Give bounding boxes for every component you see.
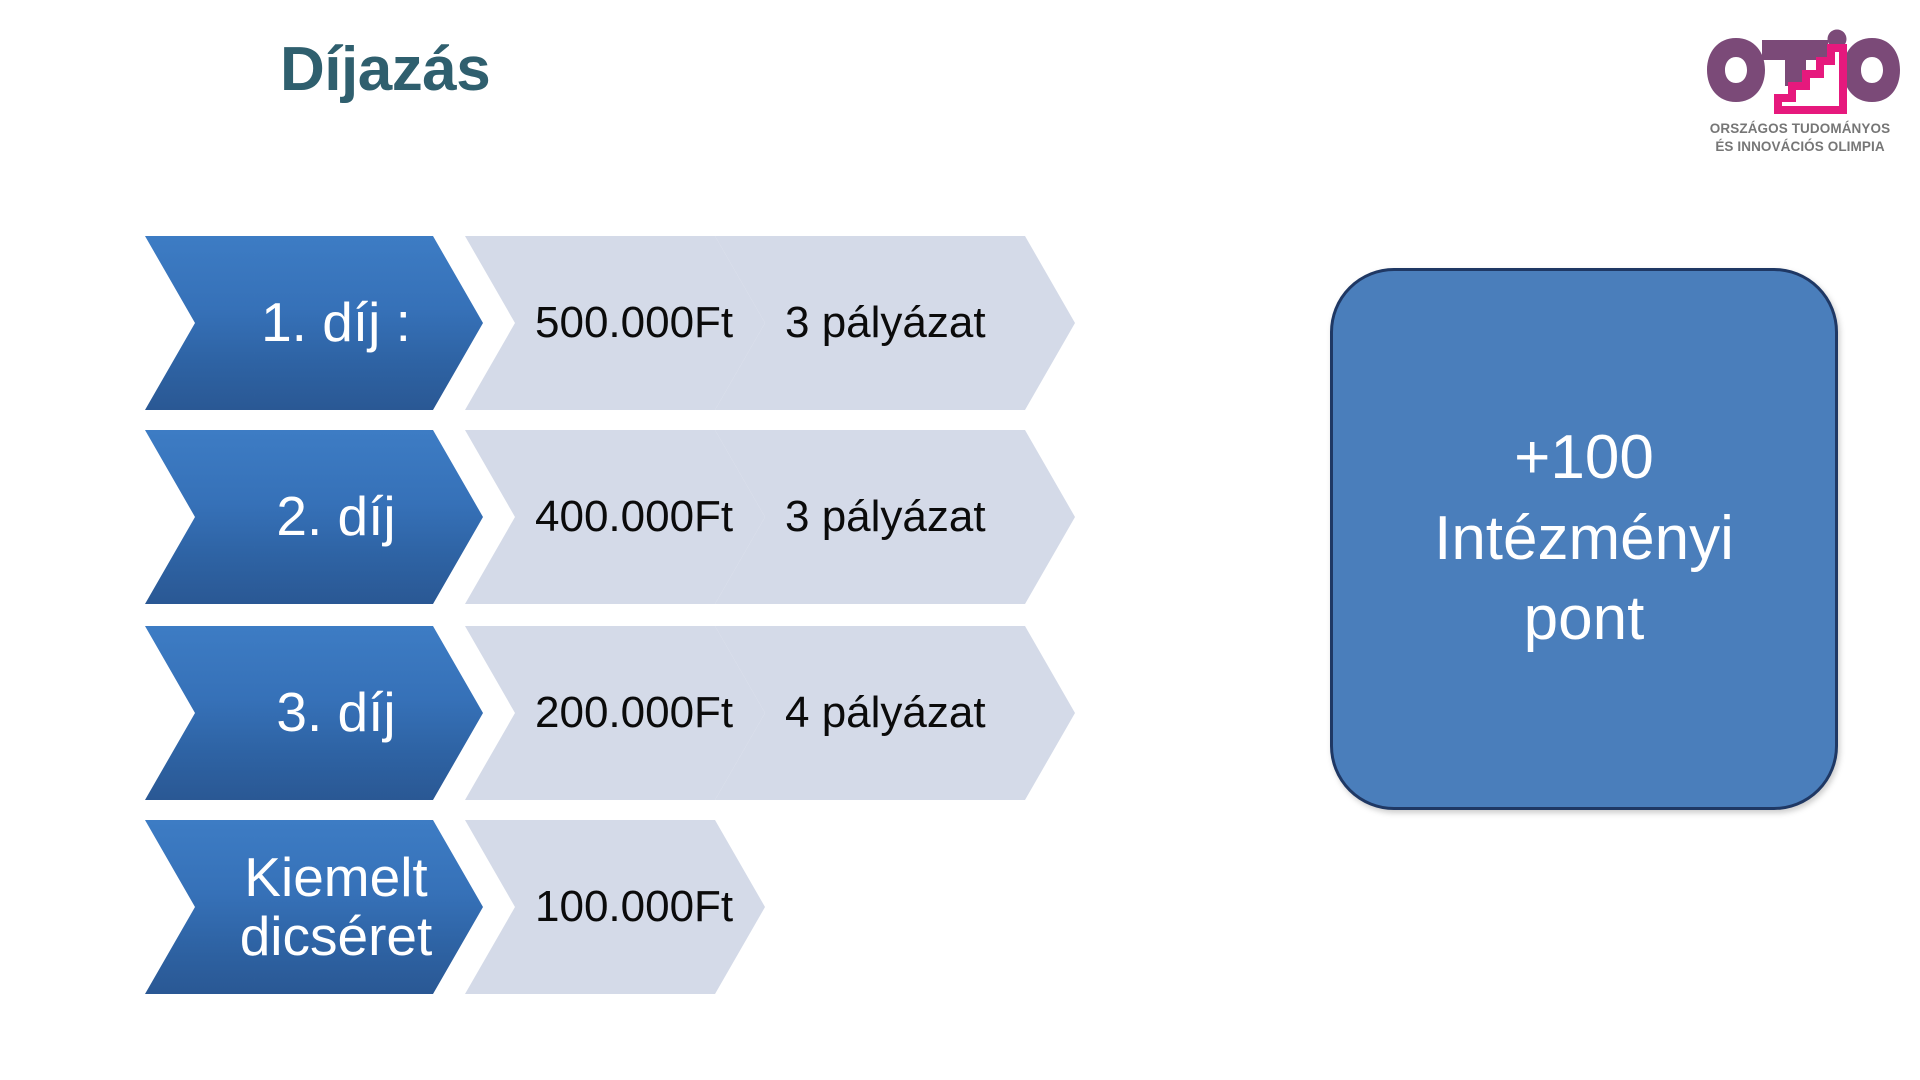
otio-logo-svg <box>1700 28 1900 116</box>
award-count-chevron[interactable]: 3 pályázat <box>715 236 1075 410</box>
award-amount-chevron[interactable]: 500.000Ft <box>465 236 765 410</box>
award-count-text: 3 pályázat <box>715 299 1075 347</box>
award-amount-text: 500.000Ft <box>465 299 765 347</box>
award-label-text: 3. díj <box>145 683 483 742</box>
award-label-text: 1. díj : <box>145 293 483 352</box>
award-label-chevron[interactable]: 2. díj <box>145 430 483 604</box>
award-amount-text: 100.000Ft <box>465 883 765 931</box>
award-amount-chevron[interactable]: 200.000Ft <box>465 626 765 800</box>
award-label-chevron[interactable]: Kiemelt dicséret <box>145 820 483 994</box>
award-count-text: 3 pályázat <box>715 493 1075 541</box>
award-count-chevron[interactable]: 3 pályázat <box>715 430 1075 604</box>
otio-logo-mark <box>1700 28 1900 116</box>
award-amount-text: 400.000Ft <box>465 493 765 541</box>
institution-points-text: +100 Intézményi pont <box>1416 418 1752 660</box>
award-amount-chevron[interactable]: 400.000Ft <box>465 430 765 604</box>
award-label-text: 2. díj <box>145 487 483 546</box>
award-label-chevron[interactable]: 1. díj : <box>145 236 483 410</box>
otio-logo-caption-line2: ÉS INNOVÁCIÓS OLIMPIA <box>1700 138 1900 156</box>
otio-logo-caption: ORSZÁGOS TUDOMÁNYOS ÉS INNOVÁCIÓS OLIMPI… <box>1700 120 1900 156</box>
institution-points-callout[interactable]: +100 Intézményi pont <box>1330 268 1838 810</box>
award-amount-chevron[interactable]: 100.000Ft <box>465 820 765 994</box>
award-label-text: Kiemelt dicséret <box>145 848 483 967</box>
award-label-chevron[interactable]: 3. díj <box>145 626 483 800</box>
award-process-list: 1. díj : 500.000Ft 3 pályázat 2. díj 400… <box>0 0 1260 1080</box>
otio-logo: ORSZÁGOS TUDOMÁNYOS ÉS INNOVÁCIÓS OLIMPI… <box>1700 28 1900 168</box>
award-amount-text: 200.000Ft <box>465 689 765 737</box>
award-count-chevron[interactable]: 4 pályázat <box>715 626 1075 800</box>
award-count-text: 4 pályázat <box>715 689 1075 737</box>
otio-logo-caption-line1: ORSZÁGOS TUDOMÁNYOS <box>1700 120 1900 138</box>
